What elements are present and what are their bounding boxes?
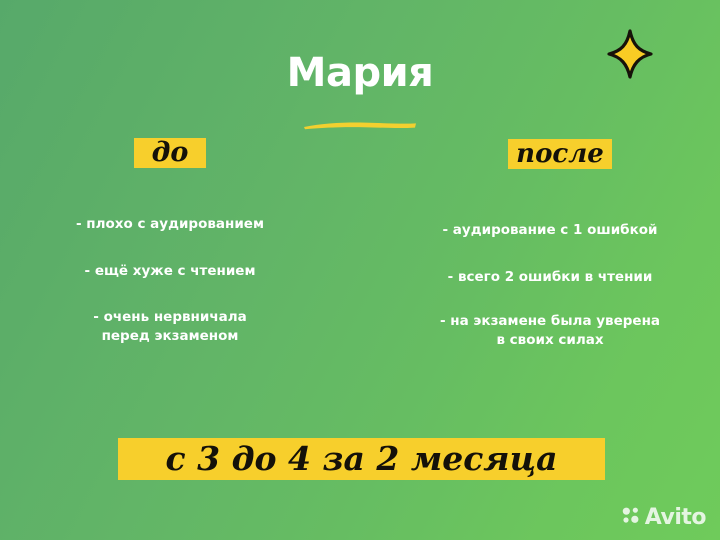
list-item: - на экзамене была уверена в своих силах xyxy=(416,312,684,350)
column-heading-before-label: до xyxy=(152,137,189,168)
page-title: Мария xyxy=(287,50,434,96)
column-heading-before: до xyxy=(134,138,206,168)
avito-watermark: Avito xyxy=(621,505,706,530)
column-before: - плохо с аудированием - ещё хуже с чтен… xyxy=(36,206,304,374)
list-item: - ещё хуже с чтением xyxy=(36,262,304,281)
poster-canvas: Мария до после - плохо с аудированием - … xyxy=(0,0,720,540)
list-item: - очень нервничала перед экзаменом xyxy=(36,308,304,346)
column-heading-after-label: после xyxy=(516,139,604,169)
title-text: Мария xyxy=(287,50,434,96)
title-block: Мария xyxy=(0,50,720,96)
list-item: - аудирование с 1 ошибкой xyxy=(416,221,684,240)
result-banner-text: с 3 до 4 за 2 месяца xyxy=(118,435,605,483)
avito-watermark-label: Avito xyxy=(645,507,706,529)
list-item: - плохо с аудированием xyxy=(36,215,304,234)
column-heading-after: после xyxy=(508,139,612,169)
column-after: - аудирование с 1 ошибкой - всего 2 ошиб… xyxy=(416,206,684,378)
list-item: - всего 2 ошибки в чтении xyxy=(416,268,684,287)
avito-logo-icon xyxy=(621,505,641,530)
brush-underline-icon xyxy=(303,94,417,104)
